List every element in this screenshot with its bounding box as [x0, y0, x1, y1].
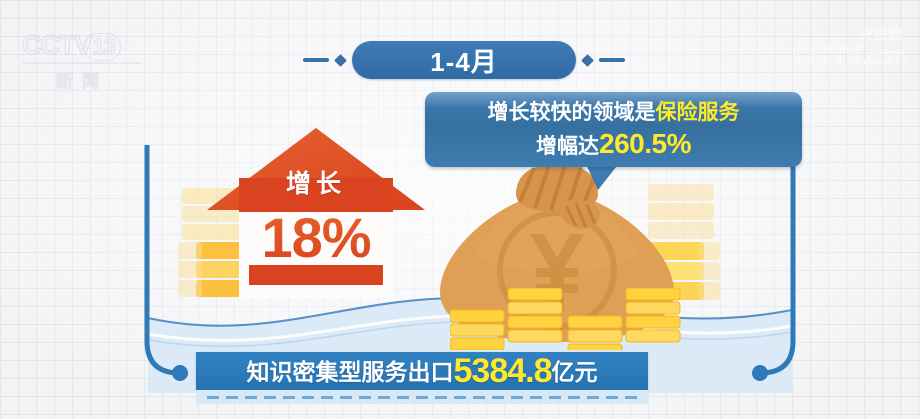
dash-segment: [302, 396, 314, 399]
dash-segment: [321, 396, 333, 399]
dash-segment: [340, 396, 352, 399]
cctvcom-main-text: CCTV: [793, 40, 863, 70]
growth-arrow-card: 增长 18%: [205, 126, 427, 302]
dash-segment: [435, 396, 447, 399]
dash-segment: [492, 396, 504, 399]
callout-line-2: 增幅达260.5%: [425, 124, 802, 159]
dash-segment: [245, 396, 257, 399]
infographic-canvas: 增长 18% 1-4月 增长较快的领域是保险服务 增幅达260.5% 知识密集型…: [0, 0, 920, 419]
cctv13-logo-row: CCTV13: [22, 30, 142, 61]
dash-segment: [454, 396, 466, 399]
summary-unit: 亿元: [552, 359, 598, 385]
insight-callout: 增长较快的领域是保险服务 增幅达260.5%: [425, 92, 802, 167]
callout-body: 增长较快的领域是保险服务 增幅达260.5%: [425, 92, 802, 167]
callout-line-1: 增长较快的领域是保险服务: [425, 92, 802, 124]
dash-segment: [226, 396, 238, 399]
title-deco-diamond-right: [581, 54, 594, 67]
dash-segment: [416, 396, 428, 399]
title-deco-diamond-left: [334, 54, 347, 67]
dash-segment: [264, 396, 276, 399]
cctvcom-main-row: CCTV.com: [736, 42, 906, 70]
period-title-text: 1-4月: [430, 42, 498, 79]
growth-value: 18%: [205, 208, 427, 268]
summary-banner-text: 知识密集型服务出口5384.8亿元: [247, 352, 598, 391]
title-deco-dash-right: [599, 58, 625, 62]
growth-label: 增长: [205, 164, 427, 200]
cctv13-logo-text: CCTV: [22, 30, 92, 60]
cctv13-number: 13: [83, 33, 121, 61]
dash-segment: [625, 396, 637, 399]
dash-segment: [606, 396, 618, 399]
cctv13-underline: [22, 62, 142, 64]
summary-banner-dashes: [196, 390, 648, 404]
cctvcom-suffix-text: .com: [862, 44, 906, 69]
dash-segment: [283, 396, 295, 399]
dash-segment: [587, 396, 599, 399]
callout-line2-prefix: 增幅达: [536, 135, 599, 158]
summary-prefix: 知识密集型服务出口: [247, 359, 454, 385]
callout-line2-unit: %: [667, 128, 691, 159]
period-title-row: 1-4月: [254, 40, 674, 80]
coin-stacks-front: [450, 288, 690, 350]
dash-segment: [378, 396, 390, 399]
dash-segment: [511, 396, 523, 399]
callout-line1-prefix: 增长较快的领域是: [488, 101, 656, 124]
callout-line1-highlight: 保险服务: [656, 101, 740, 124]
title-deco-dash-left: [303, 58, 329, 62]
cctvcom-watermark: 央视网 CCTV.com: [736, 28, 906, 82]
dash-segment: [530, 396, 542, 399]
dash-segment: [397, 396, 409, 399]
period-title-pill: 1-4月: [352, 41, 576, 79]
summary-value: 5384.8: [454, 352, 552, 390]
dash-segment: [568, 396, 580, 399]
dash-segment: [359, 396, 371, 399]
summary-banner: 知识密集型服务出口5384.8亿元: [196, 352, 648, 390]
dash-segment: [473, 396, 485, 399]
cctv13-subtitle: 新闻: [22, 67, 142, 92]
dash-segment: [549, 396, 561, 399]
cctv13-logo-watermark: CCTV13 新闻: [22, 30, 142, 88]
dash-segment: [207, 396, 219, 399]
callout-line2-value: 260.5: [599, 128, 667, 159]
